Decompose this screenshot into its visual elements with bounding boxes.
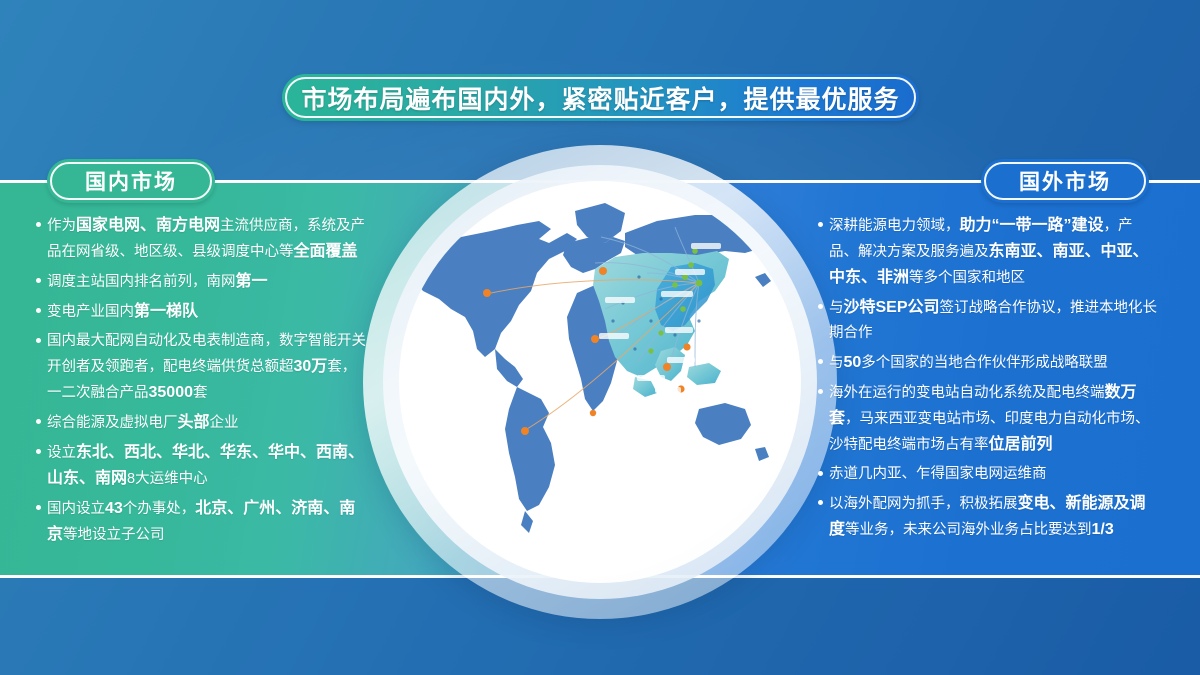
emphasis-text: 1/3 (1092, 521, 1114, 538)
plain-text: 赤道几内亚、乍得国家电网运维商 (829, 466, 1047, 482)
slide-root: 市场布局遍布国内外，紧密贴近客户，提供最优服务 (0, 0, 1200, 675)
list-item-text: 设立东北、西北、华北、华东、华中、西南、山东、南网8大运维中心 (47, 440, 366, 492)
bullet-dot-icon (818, 471, 823, 476)
badge-domestic-market: 国内市场 (47, 159, 215, 203)
list-item: 作为国家电网、南方电网主流供应商，系统及产品在网省级、地区级、县级调度中心等全面… (36, 213, 366, 265)
plain-text: 多个国家的当地合作伙伴形成战略联盟 (861, 355, 1108, 371)
list-item: 与50多个国家的当地合作伙伴形成战略联盟 (818, 350, 1158, 376)
bullet-dot-icon (36, 338, 41, 343)
plain-text: 综合能源及虚拟电厂 (47, 415, 178, 431)
list-item-text: 深耕能源电力领域，助力“一带一路”建设，产品、解决方案及服务遍及东南亚、南亚、中… (829, 213, 1158, 291)
badge-overseas-label: 国外市场 (1019, 166, 1111, 196)
plain-text: 等业务，未来公司海外业务占比要达到 (845, 522, 1092, 538)
emphasis-text: 43 (105, 500, 123, 517)
bullet-dot-icon (36, 505, 41, 510)
plain-text: 企业 (210, 415, 239, 431)
world-map-globe (363, 145, 837, 619)
list-item: 变电产业国内第一梯队 (36, 299, 366, 325)
emphasis-text: 助力“一带一路”建设 (960, 217, 1104, 234)
emphasis-text: 位居前列 (989, 436, 1053, 453)
list-item: 综合能源及虚拟电厂头部企业 (36, 410, 366, 436)
world-map-svg (399, 181, 801, 583)
list-item: 以海外配网为抓手，积极拓展变电、新能源及调度等业务，未来公司海外业务占比要达到1… (818, 491, 1158, 543)
plain-text: 作为 (47, 218, 76, 234)
badge-overseas-market: 国外市场 (981, 159, 1149, 203)
bullet-dot-icon (36, 308, 41, 313)
plain-text: 8大运维中心 (127, 471, 208, 487)
plain-text: 个办事处， (123, 501, 196, 517)
slide-title-pill: 市场布局遍布国内外，紧密贴近客户，提供最优服务 (282, 74, 919, 121)
list-item-text: 与沙特SEP公司签订战略合作协议，推进本地化长期合作 (829, 295, 1158, 346)
list-item-text: 综合能源及虚拟电厂头部企业 (47, 410, 366, 436)
list-item: 调度主站国内排名前列，南网第一 (36, 269, 366, 295)
bullet-dot-icon (818, 359, 823, 364)
plain-text: 变电产业国内 (47, 304, 134, 320)
bullet-dot-icon (818, 304, 823, 309)
bullet-dot-icon (818, 389, 823, 394)
list-item-text: 国内最大配网自动化及电表制造商，数字智能开关开创者及领跑者，配电终端供货总额超3… (47, 329, 366, 406)
plain-text: 与 (829, 300, 844, 316)
bullet-dot-icon (36, 278, 41, 283)
emphasis-text: 沙特SEP公司 (844, 299, 940, 316)
plain-text: 等多个国家和地区 (909, 270, 1025, 286)
page-title: 市场布局遍布国内外，紧密贴近客户，提供最优服务 (301, 80, 899, 116)
plain-text: 海外在运行的变电站自动化系统及配电终端 (829, 385, 1105, 401)
list-item: 设立东北、西北、华北、华东、华中、西南、山东、南网8大运维中心 (36, 440, 366, 492)
list-item: 国内设立43个办事处，北京、广州、济南、南京等地设立子公司 (36, 496, 366, 548)
list-item: 国内最大配网自动化及电表制造商，数字智能开关开创者及领跑者，配电终端供货总额超3… (36, 329, 366, 406)
list-item-text: 国内设立43个办事处，北京、广州、济南、南京等地设立子公司 (47, 496, 366, 548)
list-item-text: 以海外配网为抓手，积极拓展变电、新能源及调度等业务，未来公司海外业务占比要达到1… (829, 491, 1158, 543)
emphasis-text: 第一梯队 (134, 303, 198, 320)
emphasis-text: 头部 (178, 414, 210, 431)
plain-text: 调度主站国内排名前列，南网 (47, 274, 236, 290)
plain-text: 套 (193, 385, 208, 401)
overseas-bullet-list: 深耕能源电力领域，助力“一带一路”建设，产品、解决方案及服务遍及东南亚、南亚、中… (818, 213, 1158, 547)
emphasis-text: 第一 (236, 273, 268, 290)
plain-text: 设立 (47, 445, 76, 461)
list-item-text: 变电产业国内第一梯队 (47, 299, 366, 325)
plain-text: 国内设立 (47, 501, 105, 517)
emphasis-text: 35000 (149, 384, 194, 401)
plain-text: 与 (829, 355, 844, 371)
badge-domestic-label: 国内市场 (85, 166, 177, 196)
list-item: 赤道几内亚、乍得国家电网运维商 (818, 462, 1158, 487)
list-item-text: 与50多个国家的当地合作伙伴形成战略联盟 (829, 350, 1158, 376)
emphasis-text: 50 (844, 354, 862, 371)
plain-text: 以海外配网为抓手，积极拓展 (829, 496, 1018, 512)
list-item: 海外在运行的变电站自动化系统及配电终端数万套，马来西亚变电站市场、印度电力自动化… (818, 380, 1158, 458)
domestic-bullet-list: 作为国家电网、南方电网主流供应商，系统及产品在网省级、地区级、县级调度中心等全面… (36, 213, 366, 552)
bullet-dot-icon (818, 500, 823, 505)
emphasis-text: 30万 (294, 358, 328, 375)
emphasis-text: 全面覆盖 (294, 243, 358, 260)
list-item-text: 赤道几内亚、乍得国家电网运维商 (829, 462, 1158, 487)
bullet-dot-icon (36, 222, 41, 227)
bullet-dot-icon (818, 222, 823, 227)
list-item: 深耕能源电力领域，助力“一带一路”建设，产品、解决方案及服务遍及东南亚、南亚、中… (818, 213, 1158, 291)
bullet-dot-icon (36, 449, 41, 454)
list-item: 与沙特SEP公司签订战略合作协议，推进本地化长期合作 (818, 295, 1158, 346)
plain-text: 深耕能源电力领域， (829, 218, 960, 234)
plain-text: 等地设立子公司 (63, 527, 165, 543)
list-item-text: 海外在运行的变电站自动化系统及配电终端数万套，马来西亚变电站市场、印度电力自动化… (829, 380, 1158, 458)
bullet-dot-icon (36, 419, 41, 424)
list-item-text: 调度主站国内排名前列，南网第一 (47, 269, 366, 295)
emphasis-text: 国家电网、南方电网 (76, 217, 220, 234)
list-item-text: 作为国家电网、南方电网主流供应商，系统及产品在网省级、地区级、县级调度中心等全面… (47, 213, 366, 265)
globe-face (399, 181, 801, 583)
